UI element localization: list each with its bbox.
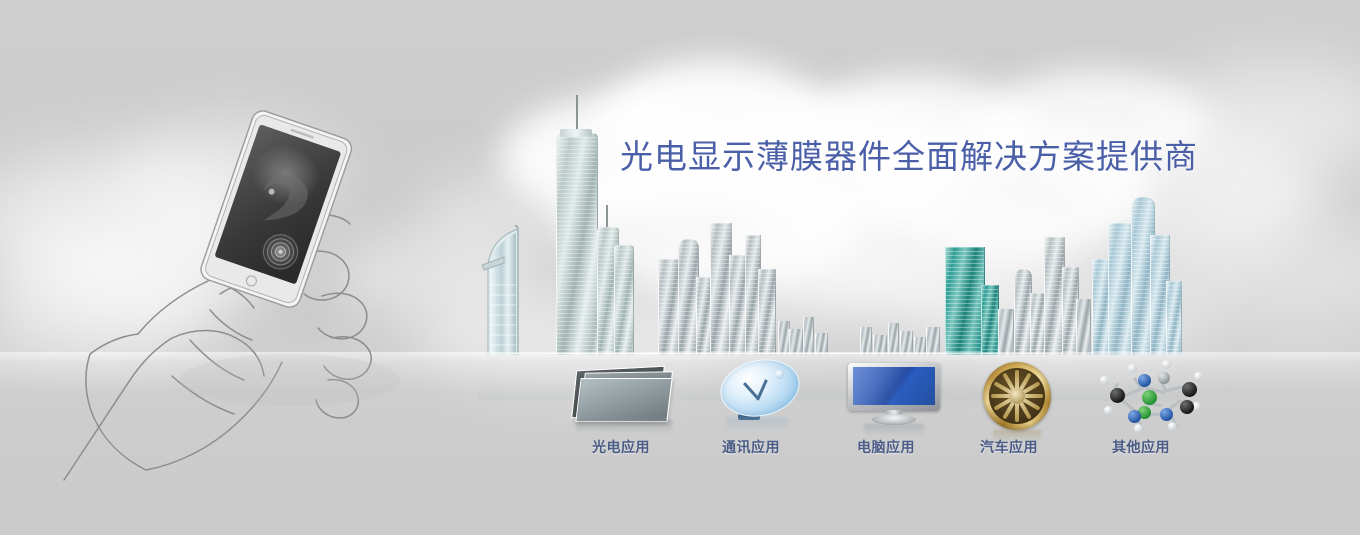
tower-antenna xyxy=(576,95,578,133)
app-label-communication: 通讯应用 xyxy=(722,437,780,457)
film-sheet-front xyxy=(575,378,672,422)
app-icon-communication[interactable] xyxy=(712,358,804,426)
monitor-reflection xyxy=(864,424,924,436)
hand-holding-phone-illustration xyxy=(60,80,480,500)
atom-nitrogen xyxy=(1160,408,1173,421)
atom-hydrogen xyxy=(1134,424,1143,433)
app-icon-other[interactable] xyxy=(1098,358,1202,434)
monitor-glare xyxy=(853,367,935,405)
horizon-line xyxy=(400,353,1100,354)
atom-hydrogen xyxy=(1162,360,1171,369)
atom-hydrogen xyxy=(1104,406,1113,415)
building-low-7 xyxy=(888,323,899,355)
atom-metal-center xyxy=(1142,390,1157,405)
atom-carbon xyxy=(1182,382,1197,397)
building-low-5 xyxy=(860,327,872,355)
app-icon-computer[interactable] xyxy=(848,363,940,425)
app-label-computer: 电脑应用 xyxy=(857,437,915,457)
page-title: 光电显示薄膜器件全面解决方案提供商 xyxy=(620,140,1198,173)
building-right-1 xyxy=(998,309,1014,355)
building-right-3 xyxy=(1030,293,1045,355)
wheel-face xyxy=(989,368,1045,424)
building-twin-b xyxy=(614,245,634,355)
app-label-automotive: 汽车应用 xyxy=(980,437,1038,457)
wheel-hub xyxy=(1009,388,1025,404)
app-icon-automotive[interactable] xyxy=(983,362,1055,434)
building-sail-tower xyxy=(478,225,532,355)
building-tall-tower xyxy=(556,133,598,355)
atom-hydrogen xyxy=(1194,372,1203,381)
app-label-other: 其他应用 xyxy=(1112,437,1170,457)
atom-gray xyxy=(1158,372,1170,384)
tower-crown xyxy=(560,129,592,137)
twin-antenna xyxy=(606,205,608,227)
hero-banner: 光电应用 通讯应用 电脑应用 xyxy=(0,0,1360,535)
film-sheet-reflection xyxy=(575,420,673,434)
building-teal-annex xyxy=(981,285,999,355)
atom-hydrogen xyxy=(1168,422,1177,431)
building-blue-5 xyxy=(1166,281,1182,355)
atom-hydrogen xyxy=(1100,376,1109,385)
app-label-optoelectronic: 光电应用 xyxy=(592,437,650,457)
atom-nitrogen xyxy=(1128,410,1141,423)
building-mid-7 xyxy=(758,269,776,355)
atom-carbon xyxy=(1110,388,1125,403)
atom-hydrogen xyxy=(1128,364,1137,373)
app-icon-optoelectronic[interactable] xyxy=(570,362,680,424)
building-low-10 xyxy=(926,327,940,355)
dish-reflection xyxy=(726,418,788,432)
building-right-6 xyxy=(1076,299,1091,355)
building-low-3 xyxy=(803,317,814,355)
dish-lnb xyxy=(775,370,784,379)
atom-nitrogen xyxy=(1138,374,1151,387)
building-teal-tower xyxy=(945,247,985,355)
atom-carbon xyxy=(1180,400,1194,414)
